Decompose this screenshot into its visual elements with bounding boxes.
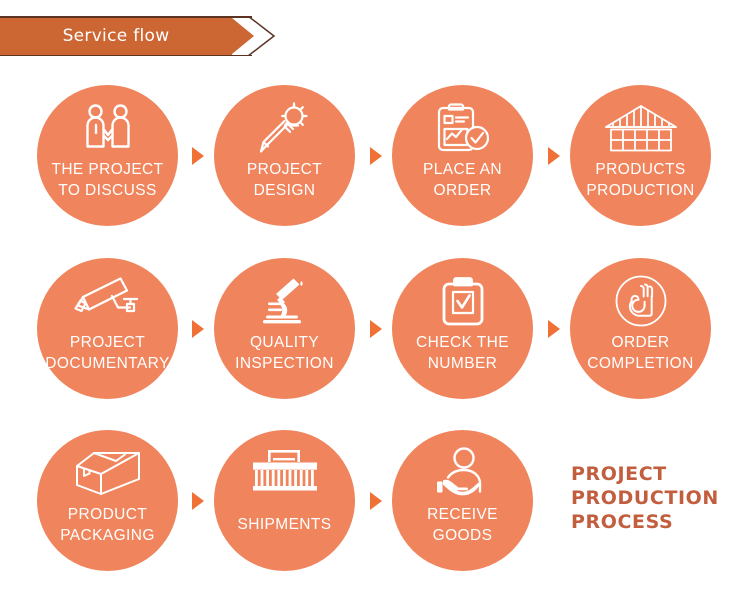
step-label-3: PLACE AN ORDER	[378, 159, 547, 201]
step-circle-11	[392, 430, 533, 571]
step-circle-6	[214, 258, 355, 399]
step-label-7: CHECK THE NUMBER	[378, 332, 547, 374]
step-label-8: ORDER COMPLETION	[556, 332, 725, 374]
banner-title: Service flow	[0, 18, 232, 55]
step-node-2[interactable]: PROJECT DESIGN	[214, 85, 355, 226]
connector-arrow-7	[192, 492, 204, 510]
step-label-1: THE PROJECT TO DISCUSS	[23, 159, 192, 201]
step-label-9: PRODUCT PACKAGING	[23, 504, 192, 546]
step-circle-4	[570, 85, 711, 226]
banner-bottom-rule	[0, 55, 252, 57]
step-node-10[interactable]: SHIPMENTS	[214, 430, 355, 571]
step-node-11[interactable]: RECEIVE GOODS	[392, 430, 533, 571]
connector-arrow-6	[548, 320, 560, 338]
connector-arrow-1	[192, 147, 204, 165]
step-node-3[interactable]: PLACE AN ORDER	[392, 85, 533, 226]
step-node-8[interactable]: ORDER COMPLETION	[570, 258, 711, 399]
step-label-10: SHIPMENTS	[200, 514, 369, 535]
step-label-6: QUALITY INSPECTION	[200, 332, 369, 374]
connector-arrow-2	[370, 147, 382, 165]
step-label-2: PROJECT DESIGN	[200, 159, 369, 201]
step-node-5[interactable]: PROJECT DOCUMENTARY	[37, 258, 178, 399]
step-circle-5	[37, 258, 178, 399]
step-node-1[interactable]: THE PROJECT TO DISCUSS	[37, 85, 178, 226]
connector-arrow-5	[370, 320, 382, 338]
step-circle-7	[392, 258, 533, 399]
step-circle-8	[570, 258, 711, 399]
step-circle-1	[37, 85, 178, 226]
connector-arrow-3	[548, 147, 560, 165]
step-node-9[interactable]: PRODUCT PACKAGING	[37, 430, 178, 571]
step-label-4: PRODUCTS PRODUCTION	[556, 159, 725, 201]
step-circle-9	[37, 430, 178, 571]
step-node-7[interactable]: CHECK THE NUMBER	[392, 258, 533, 399]
step-circle-3	[392, 85, 533, 226]
service-flow-banner: Service flow	[0, 16, 272, 56]
process-caption: PROJECT PRODUCTION PROCESS	[571, 462, 746, 534]
connector-arrow-8	[370, 492, 382, 510]
step-label-5: PROJECT DOCUMENTARY	[23, 332, 192, 374]
step-node-6[interactable]: QUALITY INSPECTION	[214, 258, 355, 399]
connector-arrow-4	[192, 320, 204, 338]
step-node-4[interactable]: PRODUCTS PRODUCTION	[570, 85, 711, 226]
step-circle-10	[214, 430, 355, 571]
service-flow-infographic: Service flow THE PROJECT TO DISCUSS	[0, 0, 750, 598]
banner-arrow-tip	[232, 18, 254, 54]
step-circle-2	[214, 85, 355, 226]
step-label-11: RECEIVE GOODS	[378, 504, 547, 546]
